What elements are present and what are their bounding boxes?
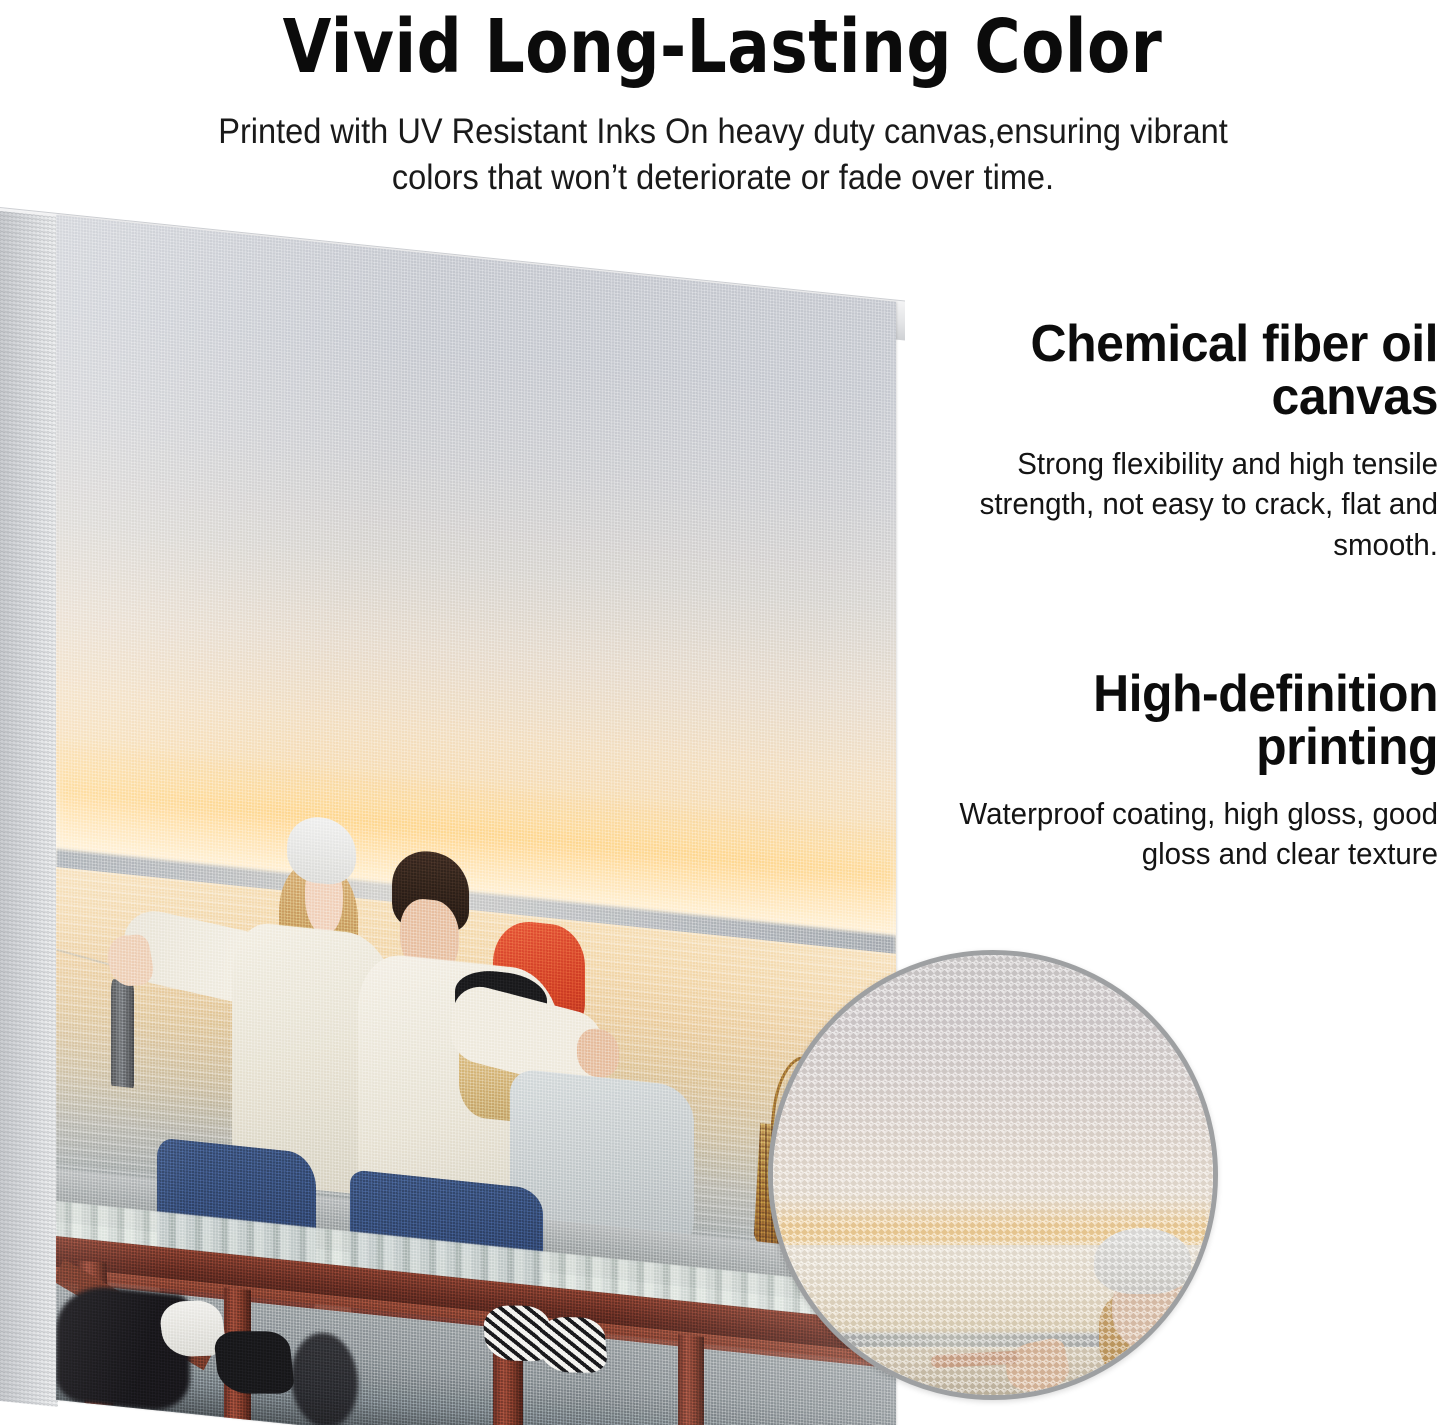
product-infographic: Vivid Long-Lasting Color Printed with UV…	[0, 0, 1445, 1425]
feature-title: High-definition printing	[939, 668, 1438, 774]
artwork-photo	[56, 215, 896, 1425]
header: Vivid Long-Lasting Color Printed with UV…	[0, 0, 1445, 201]
photo-patterned-sneaker	[537, 1316, 609, 1372]
page-subtitle: Printed with UV Resistant Inks On heavy …	[174, 71, 1271, 201]
photo-black-boot	[213, 1331, 295, 1393]
magnifier-sky	[773, 955, 1213, 1228]
canvas-printed-face	[56, 215, 896, 1425]
feature-body: Waterproof coating, high gloss, good glo…	[944, 774, 1438, 875]
photo-mooring-post	[111, 979, 135, 1088]
magnifier-woman-beanie	[1094, 1228, 1191, 1294]
photo-piling	[678, 1334, 705, 1425]
texture-magnifier-inset	[768, 950, 1218, 1400]
feature-body: Strong flexibility and high tensile stre…	[944, 424, 1438, 565]
feature-block-high-definition: High-definition printing Waterproof coat…	[918, 668, 1438, 875]
feature-title: Chemical fiber oil canvas	[939, 318, 1438, 424]
canvas-wrapped-side-edge	[0, 211, 58, 1407]
feature-block-chemical-fiber: Chemical fiber oil canvas Strong flexibi…	[918, 318, 1438, 565]
